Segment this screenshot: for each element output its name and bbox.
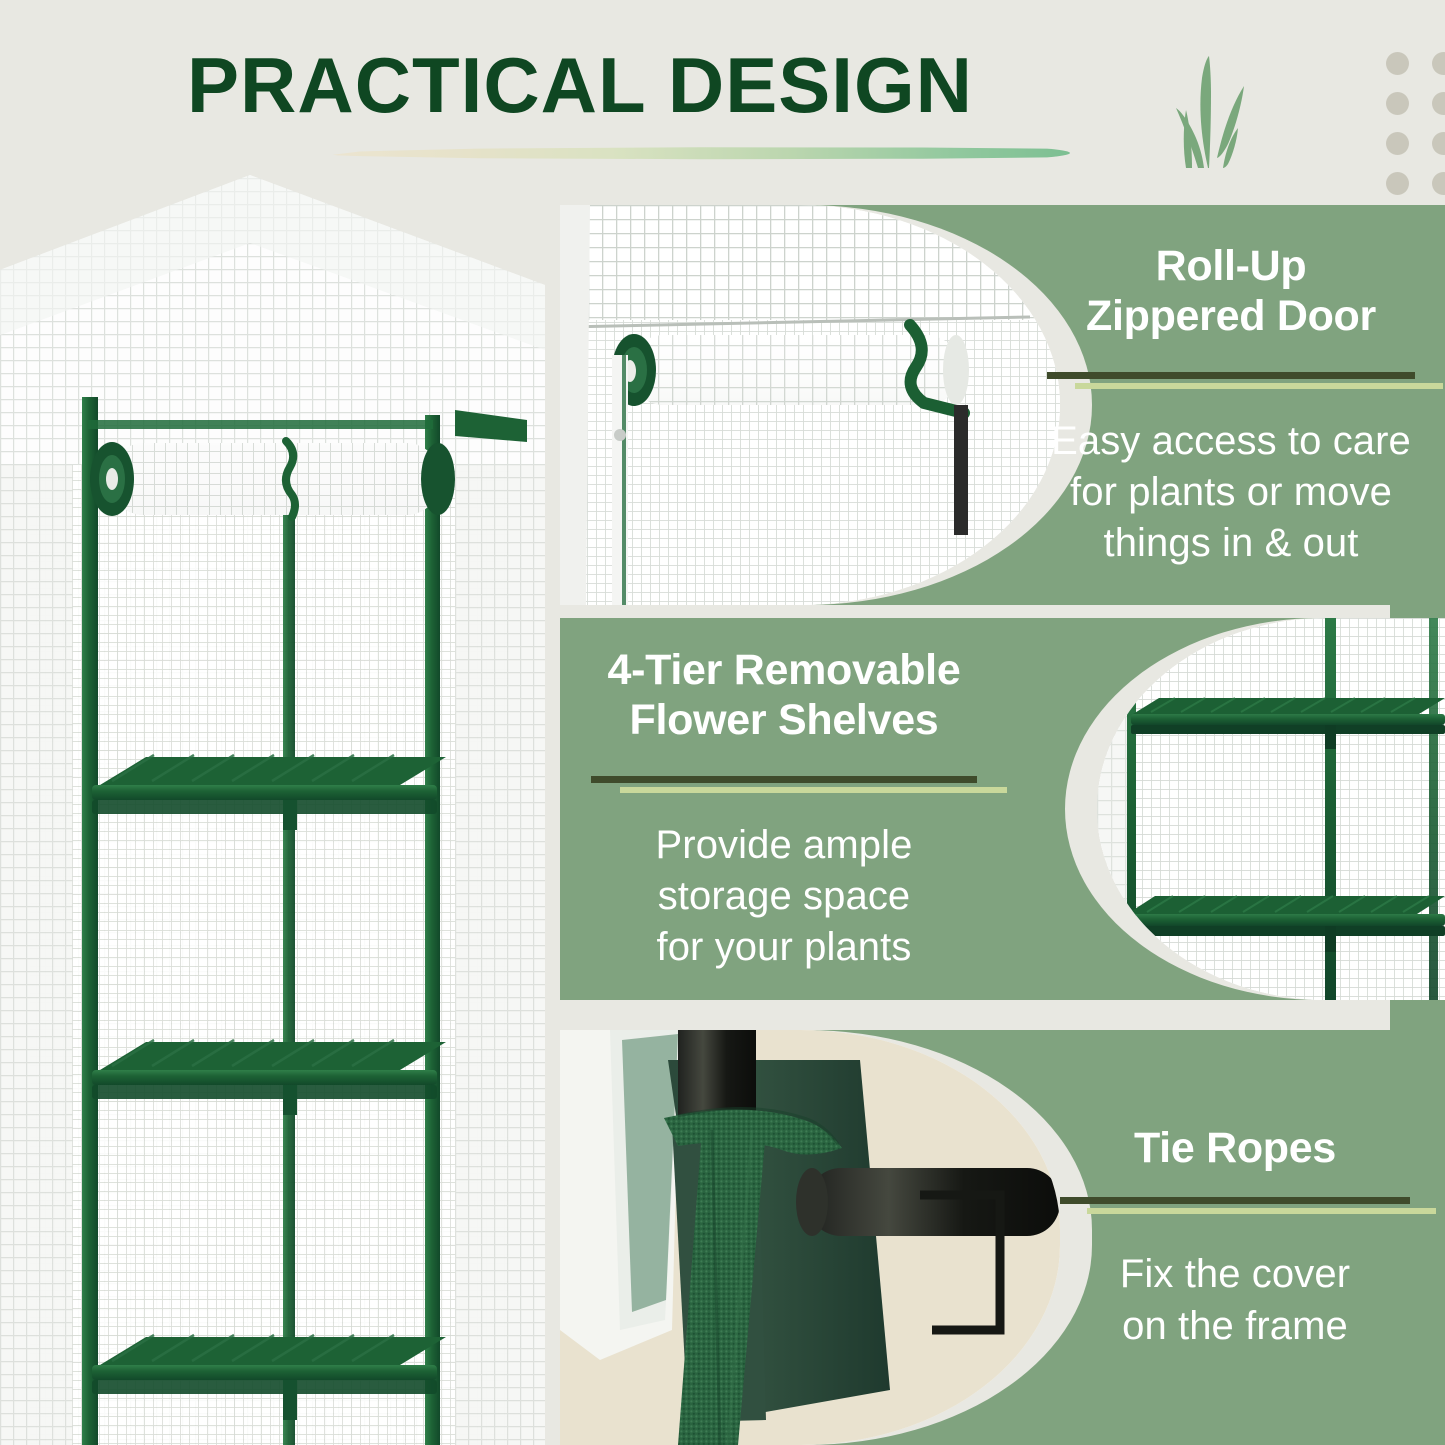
feature-photo-roll-up-door xyxy=(560,205,1060,605)
dot-grid-icon xyxy=(1386,52,1445,202)
card-title: Tie Ropes xyxy=(1134,1123,1336,1173)
feature-text-block: Roll-Up Zippered Door Easy access to car… xyxy=(1031,205,1431,605)
divider-light-line xyxy=(620,787,1006,793)
card-body: Easy access to care for plants or move t… xyxy=(1051,416,1411,570)
product-hero-image xyxy=(0,165,545,1445)
title-divider xyxy=(1045,1193,1425,1219)
rolled-door xyxy=(90,441,455,517)
divider-dark-line xyxy=(1047,372,1415,379)
feature-photo-tie-ropes xyxy=(560,1030,1060,1445)
page-title: PRACTICAL DESIGN xyxy=(0,40,1160,131)
feature-text-block: 4-Tier Removable Flower Shelves Provide … xyxy=(574,618,994,1000)
infographic-canvas: PRACTICAL DESIGN xyxy=(0,0,1445,1445)
divider-dark-line xyxy=(1060,1197,1410,1204)
divider-dark-line xyxy=(591,776,977,783)
card-body: Provide ample storage space for your pla… xyxy=(656,820,913,974)
feature-card-tie-ropes: Tie Ropes Fix the cover on the frame xyxy=(560,1030,1445,1445)
divider-light-line xyxy=(1087,1208,1437,1214)
title-underline-brushstroke xyxy=(330,140,1070,166)
card-title: 4-Tier Removable Flower Shelves xyxy=(608,645,961,746)
card-title: Roll-Up Zippered Door xyxy=(1086,241,1376,342)
grass-icon xyxy=(1168,50,1268,170)
divider-light-line xyxy=(1075,383,1443,389)
feature-card-roll-up-zippered-door: Roll-Up Zippered Door Easy access to car… xyxy=(560,205,1445,605)
title-divider xyxy=(574,772,994,798)
greenhouse-illustration xyxy=(0,165,545,1445)
title-divider xyxy=(1031,368,1431,394)
tie-ropes-photo xyxy=(560,1030,1060,1445)
card-body: Fix the cover on the frame xyxy=(1120,1249,1350,1351)
feature-card-four-tier-removable-flower-shelves: 4-Tier Removable Flower Shelves Provide … xyxy=(560,618,1445,1000)
feature-text-block: Tie Ropes Fix the cover on the frame xyxy=(1045,1030,1425,1445)
roll-up-door-photo xyxy=(560,205,1060,605)
